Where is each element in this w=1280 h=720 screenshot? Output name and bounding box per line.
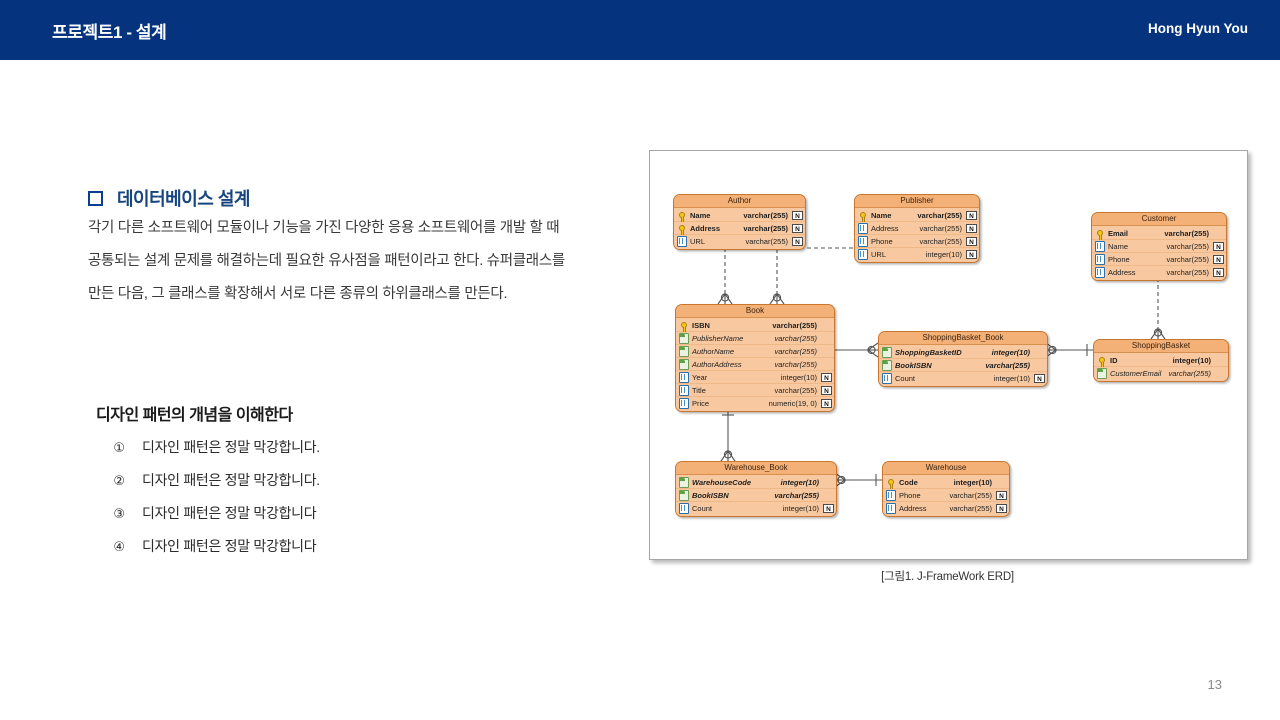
entity-rows: Emailvarchar(255)Namevarchar(255)NPhonev… <box>1092 226 1226 280</box>
fk-icon <box>881 347 892 358</box>
column-type: integer(10) <box>783 504 822 513</box>
entity-column-row: Phonevarchar(255)N <box>883 489 1009 502</box>
column-name: Count <box>689 504 783 513</box>
not-null-badge: N <box>792 224 803 233</box>
column-name: ISBN <box>689 321 772 330</box>
entity-title: ShoppingBasket <box>1094 340 1228 353</box>
erd-canvas: AuthorNamevarchar(255)NAddressvarchar(25… <box>649 150 1248 560</box>
entity-column-row: Addressvarchar(255)N <box>1092 266 1226 279</box>
list-item-label: 디자인 패턴은 정말 막강합니다. <box>142 470 320 490</box>
column-type: integer(10) <box>926 250 965 259</box>
column-type: varchar(255) <box>774 386 820 395</box>
not-null-badge <box>821 360 832 369</box>
column-name: AuthorName <box>689 347 774 356</box>
entity-column-row: Pricenumeric(19, 0)N <box>676 397 834 410</box>
column-name: Name <box>868 211 917 220</box>
column-type: varchar(255) <box>949 491 995 500</box>
entity-column-row: URLinteger(10)N <box>855 248 979 261</box>
not-null-badge <box>821 334 832 343</box>
column-icon <box>857 236 868 247</box>
column-name: ID <box>1107 356 1173 365</box>
entity-column-row: WarehouseCodeinteger(10) <box>676 476 836 489</box>
erd-entity-author[interactable]: AuthorNamevarchar(255)NAddressvarchar(25… <box>673 194 806 250</box>
author-name: Hong Hyun You <box>1148 21 1248 36</box>
column-type: varchar(255) <box>1166 242 1212 251</box>
not-null-badge <box>823 478 834 487</box>
not-null-badge: N <box>966 237 977 246</box>
entity-title: Author <box>674 195 805 208</box>
body-paragraph: 각기 다른 소프트웨어 모듈이나 기능을 가진 다양한 응용 소프트웨어를 개발… <box>88 212 573 311</box>
key-icon <box>1094 228 1105 239</box>
slide: 프로젝트1 - 설계 Hong Hyun You 데이터베이스 설계 각기 다른… <box>0 0 1280 720</box>
entity-rows: ISBNvarchar(255)PublisherNamevarchar(255… <box>676 318 834 411</box>
not-null-badge: N <box>792 211 803 220</box>
entity-rows: IDinteger(10)CustomerEmailvarchar(255) <box>1094 353 1228 381</box>
column-name: Address <box>868 224 919 233</box>
column-type: varchar(255) <box>985 361 1033 370</box>
erd-entity-warehouse[interactable]: WarehouseCodeinteger(10)Phonevarchar(255… <box>882 461 1010 517</box>
list-item: ② 디자인 패턴은 정말 막강합니다. <box>112 470 320 503</box>
key-icon <box>678 320 689 331</box>
column-name: Name <box>1105 242 1166 251</box>
entity-column-row: AuthorAddressvarchar(255) <box>676 358 834 371</box>
page-title: 프로젝트1 - 설계 <box>52 18 166 43</box>
column-name: URL <box>868 250 926 259</box>
entity-column-row: Addressvarchar(255)N <box>674 222 805 235</box>
column-name: Price <box>689 399 769 408</box>
column-name: URL <box>687 237 745 246</box>
list-item-number: ③ <box>112 506 126 522</box>
entity-column-row: AuthorNamevarchar(255) <box>676 345 834 358</box>
column-icon <box>885 490 896 501</box>
square-bullet-icon <box>88 191 103 206</box>
column-icon <box>678 372 689 383</box>
column-type: varchar(255) <box>774 347 820 356</box>
entity-column-row: Addressvarchar(255)N <box>883 502 1009 515</box>
entity-rows: ShoppingBasketIDinteger(10)BookISBNvarch… <box>879 345 1047 386</box>
entity-column-row: IDinteger(10) <box>1094 354 1228 367</box>
column-icon <box>857 249 868 260</box>
erd-figure: AuthorNamevarchar(255)NAddressvarchar(25… <box>649 150 1248 560</box>
entity-column-row: ShoppingBasketIDinteger(10) <box>879 346 1047 359</box>
column-name: AuthorAddress <box>689 360 774 369</box>
column-type: varchar(255) <box>743 211 791 220</box>
column-name: Phone <box>1105 255 1166 264</box>
key-icon <box>857 210 868 221</box>
column-type: varchar(255) <box>917 211 965 220</box>
entity-column-row: Phonevarchar(255)N <box>1092 253 1226 266</box>
column-name: Name <box>687 211 743 220</box>
column-type: varchar(255) <box>774 491 822 500</box>
entity-column-row: URLvarchar(255)N <box>674 235 805 248</box>
erd-entity-warehouse_book[interactable]: Warehouse_BookWarehouseCodeinteger(10)Bo… <box>675 461 837 517</box>
column-type: integer(10) <box>992 348 1033 357</box>
column-type: varchar(255) <box>774 334 820 343</box>
entity-column-row: Namevarchar(255)N <box>855 209 979 222</box>
column-name: WarehouseCode <box>689 478 781 487</box>
entity-title: Warehouse <box>883 462 1009 475</box>
list-item-label: 디자인 패턴은 정말 막강합니다 <box>142 503 316 523</box>
column-icon <box>881 373 892 384</box>
column-type: integer(10) <box>781 373 820 382</box>
list-item-label: 디자인 패턴은 정말 막강합니다. <box>142 437 320 457</box>
section-title: 데이터베이스 설계 <box>117 185 250 211</box>
list-item: ① 디자인 패턴은 정말 막강합니다. <box>112 437 320 470</box>
column-type: varchar(255) <box>1168 369 1214 378</box>
column-name: Count <box>892 374 994 383</box>
column-type: varchar(255) <box>949 504 995 513</box>
column-name: Address <box>896 504 949 513</box>
column-icon <box>857 223 868 234</box>
list-item-number: ④ <box>112 539 126 555</box>
not-null-badge: N <box>823 504 834 513</box>
column-type: varchar(255) <box>745 237 791 246</box>
entity-column-row: PublisherNamevarchar(255) <box>676 332 834 345</box>
not-null-badge: N <box>1213 268 1224 277</box>
column-type: integer(10) <box>954 478 995 487</box>
not-null-badge: N <box>1213 255 1224 264</box>
key-icon <box>676 223 687 234</box>
column-name: PublisherName <box>689 334 774 343</box>
fk-icon <box>678 359 689 370</box>
entity-title: Publisher <box>855 195 979 208</box>
entity-column-row: Codeinteger(10) <box>883 476 1009 489</box>
entity-rows: Namevarchar(255)NAddressvarchar(255)NURL… <box>674 208 805 249</box>
column-name: Phone <box>896 491 949 500</box>
list-item-number: ② <box>112 473 126 489</box>
column-name: BookISBN <box>892 361 985 370</box>
erd-entity-publisher[interactable]: PublisherNamevarchar(255)NAddressvarchar… <box>854 194 980 263</box>
entity-title: Customer <box>1092 213 1226 226</box>
entity-rows: Namevarchar(255)NAddressvarchar(255)NPho… <box>855 208 979 262</box>
not-null-badge: N <box>1213 242 1224 251</box>
entity-column-row: Phonevarchar(255)N <box>855 235 979 248</box>
column-name: BookISBN <box>689 491 774 500</box>
column-type: varchar(255) <box>743 224 791 233</box>
column-type: integer(10) <box>994 374 1033 383</box>
column-type: varchar(255) <box>772 321 820 330</box>
column-type: integer(10) <box>1173 356 1214 365</box>
column-icon <box>678 398 689 409</box>
column-type: varchar(255) <box>1164 229 1212 238</box>
key-icon <box>676 210 687 221</box>
column-name: Address <box>1105 268 1166 277</box>
entity-rows: Codeinteger(10)Phonevarchar(255)NAddress… <box>883 475 1009 516</box>
not-null-badge <box>1213 229 1224 238</box>
column-icon <box>1094 254 1105 265</box>
column-name: Email <box>1105 229 1164 238</box>
column-icon <box>678 503 689 514</box>
not-null-badge: N <box>966 211 977 220</box>
list-item-number: ① <box>112 440 126 456</box>
not-null-badge <box>823 491 834 500</box>
entity-column-row: Countinteger(10)N <box>879 372 1047 385</box>
not-null-badge <box>1034 361 1045 370</box>
entity-title: Warehouse_Book <box>676 462 836 475</box>
not-null-badge <box>1215 356 1226 365</box>
list-item: ③ 디자인 패턴은 정말 막강합니다 <box>112 503 320 536</box>
column-icon <box>678 385 689 396</box>
erd-entity-customer[interactable]: CustomerEmailvarchar(255)Namevarchar(255… <box>1091 212 1227 281</box>
erd-entity-shoppingbasket[interactable]: ShoppingBasketIDinteger(10)CustomerEmail… <box>1093 339 1229 382</box>
fk-icon <box>678 477 689 488</box>
ordered-list: ① 디자인 패턴은 정말 막강합니다. ② 디자인 패턴은 정말 막강합니다. … <box>112 437 320 569</box>
column-name: Year <box>689 373 781 382</box>
column-icon <box>676 236 687 247</box>
entity-column-row: Addressvarchar(255)N <box>855 222 979 235</box>
not-null-badge: N <box>966 250 977 259</box>
key-icon <box>1096 355 1107 366</box>
column-name: Code <box>896 478 954 487</box>
entity-column-row: Countinteger(10)N <box>676 502 836 515</box>
fk-icon <box>1096 368 1107 379</box>
entity-column-row: BookISBNvarchar(255) <box>879 359 1047 372</box>
not-null-badge <box>1034 348 1045 357</box>
not-null-badge <box>821 347 832 356</box>
figure-caption: [그림1. J-FrameWork ERD] <box>649 568 1246 584</box>
not-null-badge <box>996 478 1007 487</box>
erd-entity-shoppingbasket_book[interactable]: ShoppingBasket_BookShoppingBasketIDinteg… <box>878 331 1048 387</box>
entity-rows: WarehouseCodeinteger(10)BookISBNvarchar(… <box>676 475 836 516</box>
list-item-label: 디자인 패턴은 정말 막강합니다 <box>142 536 316 556</box>
slide-header: 프로젝트1 - 설계 Hong Hyun You <box>0 0 1280 60</box>
key-icon <box>885 477 896 488</box>
not-null-badge <box>1215 369 1226 378</box>
not-null-badge: N <box>996 504 1007 513</box>
column-type: varchar(255) <box>774 360 820 369</box>
not-null-badge: N <box>792 237 803 246</box>
entity-column-row: Namevarchar(255)N <box>674 209 805 222</box>
entity-column-row: Emailvarchar(255) <box>1092 227 1226 240</box>
entity-column-row: Namevarchar(255)N <box>1092 240 1226 253</box>
entity-column-row: Yearinteger(10)N <box>676 371 834 384</box>
section-heading: 데이터베이스 설계 <box>88 185 250 211</box>
not-null-badge: N <box>821 373 832 382</box>
column-name: CustomerEmail <box>1107 369 1168 378</box>
entity-column-row: Titlevarchar(255)N <box>676 384 834 397</box>
column-icon <box>885 503 896 514</box>
fk-icon <box>678 346 689 357</box>
column-name: Address <box>687 224 743 233</box>
entity-column-row: ISBNvarchar(255) <box>676 319 834 332</box>
column-icon <box>1094 267 1105 278</box>
column-type: varchar(255) <box>1166 268 1212 277</box>
column-icon <box>1094 241 1105 252</box>
column-name: Title <box>689 386 774 395</box>
not-null-badge: N <box>821 399 832 408</box>
not-null-badge: N <box>821 386 832 395</box>
erd-entity-book[interactable]: BookISBNvarchar(255)PublisherNamevarchar… <box>675 304 835 412</box>
fk-icon <box>678 333 689 344</box>
entity-title: ShoppingBasket_Book <box>879 332 1047 345</box>
not-null-badge: N <box>966 224 977 233</box>
column-name: ShoppingBasketID <box>892 348 992 357</box>
entity-title: Book <box>676 305 834 318</box>
entity-column-row: CustomerEmailvarchar(255) <box>1094 367 1228 380</box>
entity-column-row: BookISBNvarchar(255) <box>676 489 836 502</box>
column-name: Phone <box>868 237 919 246</box>
not-null-badge: N <box>996 491 1007 500</box>
column-type: numeric(19, 0) <box>769 399 820 408</box>
column-type: varchar(255) <box>1166 255 1212 264</box>
page-number: 13 <box>1208 677 1222 692</box>
sub-heading: 디자인 패턴의 개념을 이해한다 <box>96 401 293 425</box>
fk-icon <box>881 360 892 371</box>
column-type: varchar(255) <box>919 237 965 246</box>
column-type: integer(10) <box>781 478 822 487</box>
not-null-badge: N <box>1034 374 1045 383</box>
column-type: varchar(255) <box>919 224 965 233</box>
fk-icon <box>678 490 689 501</box>
not-null-badge <box>821 321 832 330</box>
list-item: ④ 디자인 패턴은 정말 막강합니다 <box>112 536 320 569</box>
